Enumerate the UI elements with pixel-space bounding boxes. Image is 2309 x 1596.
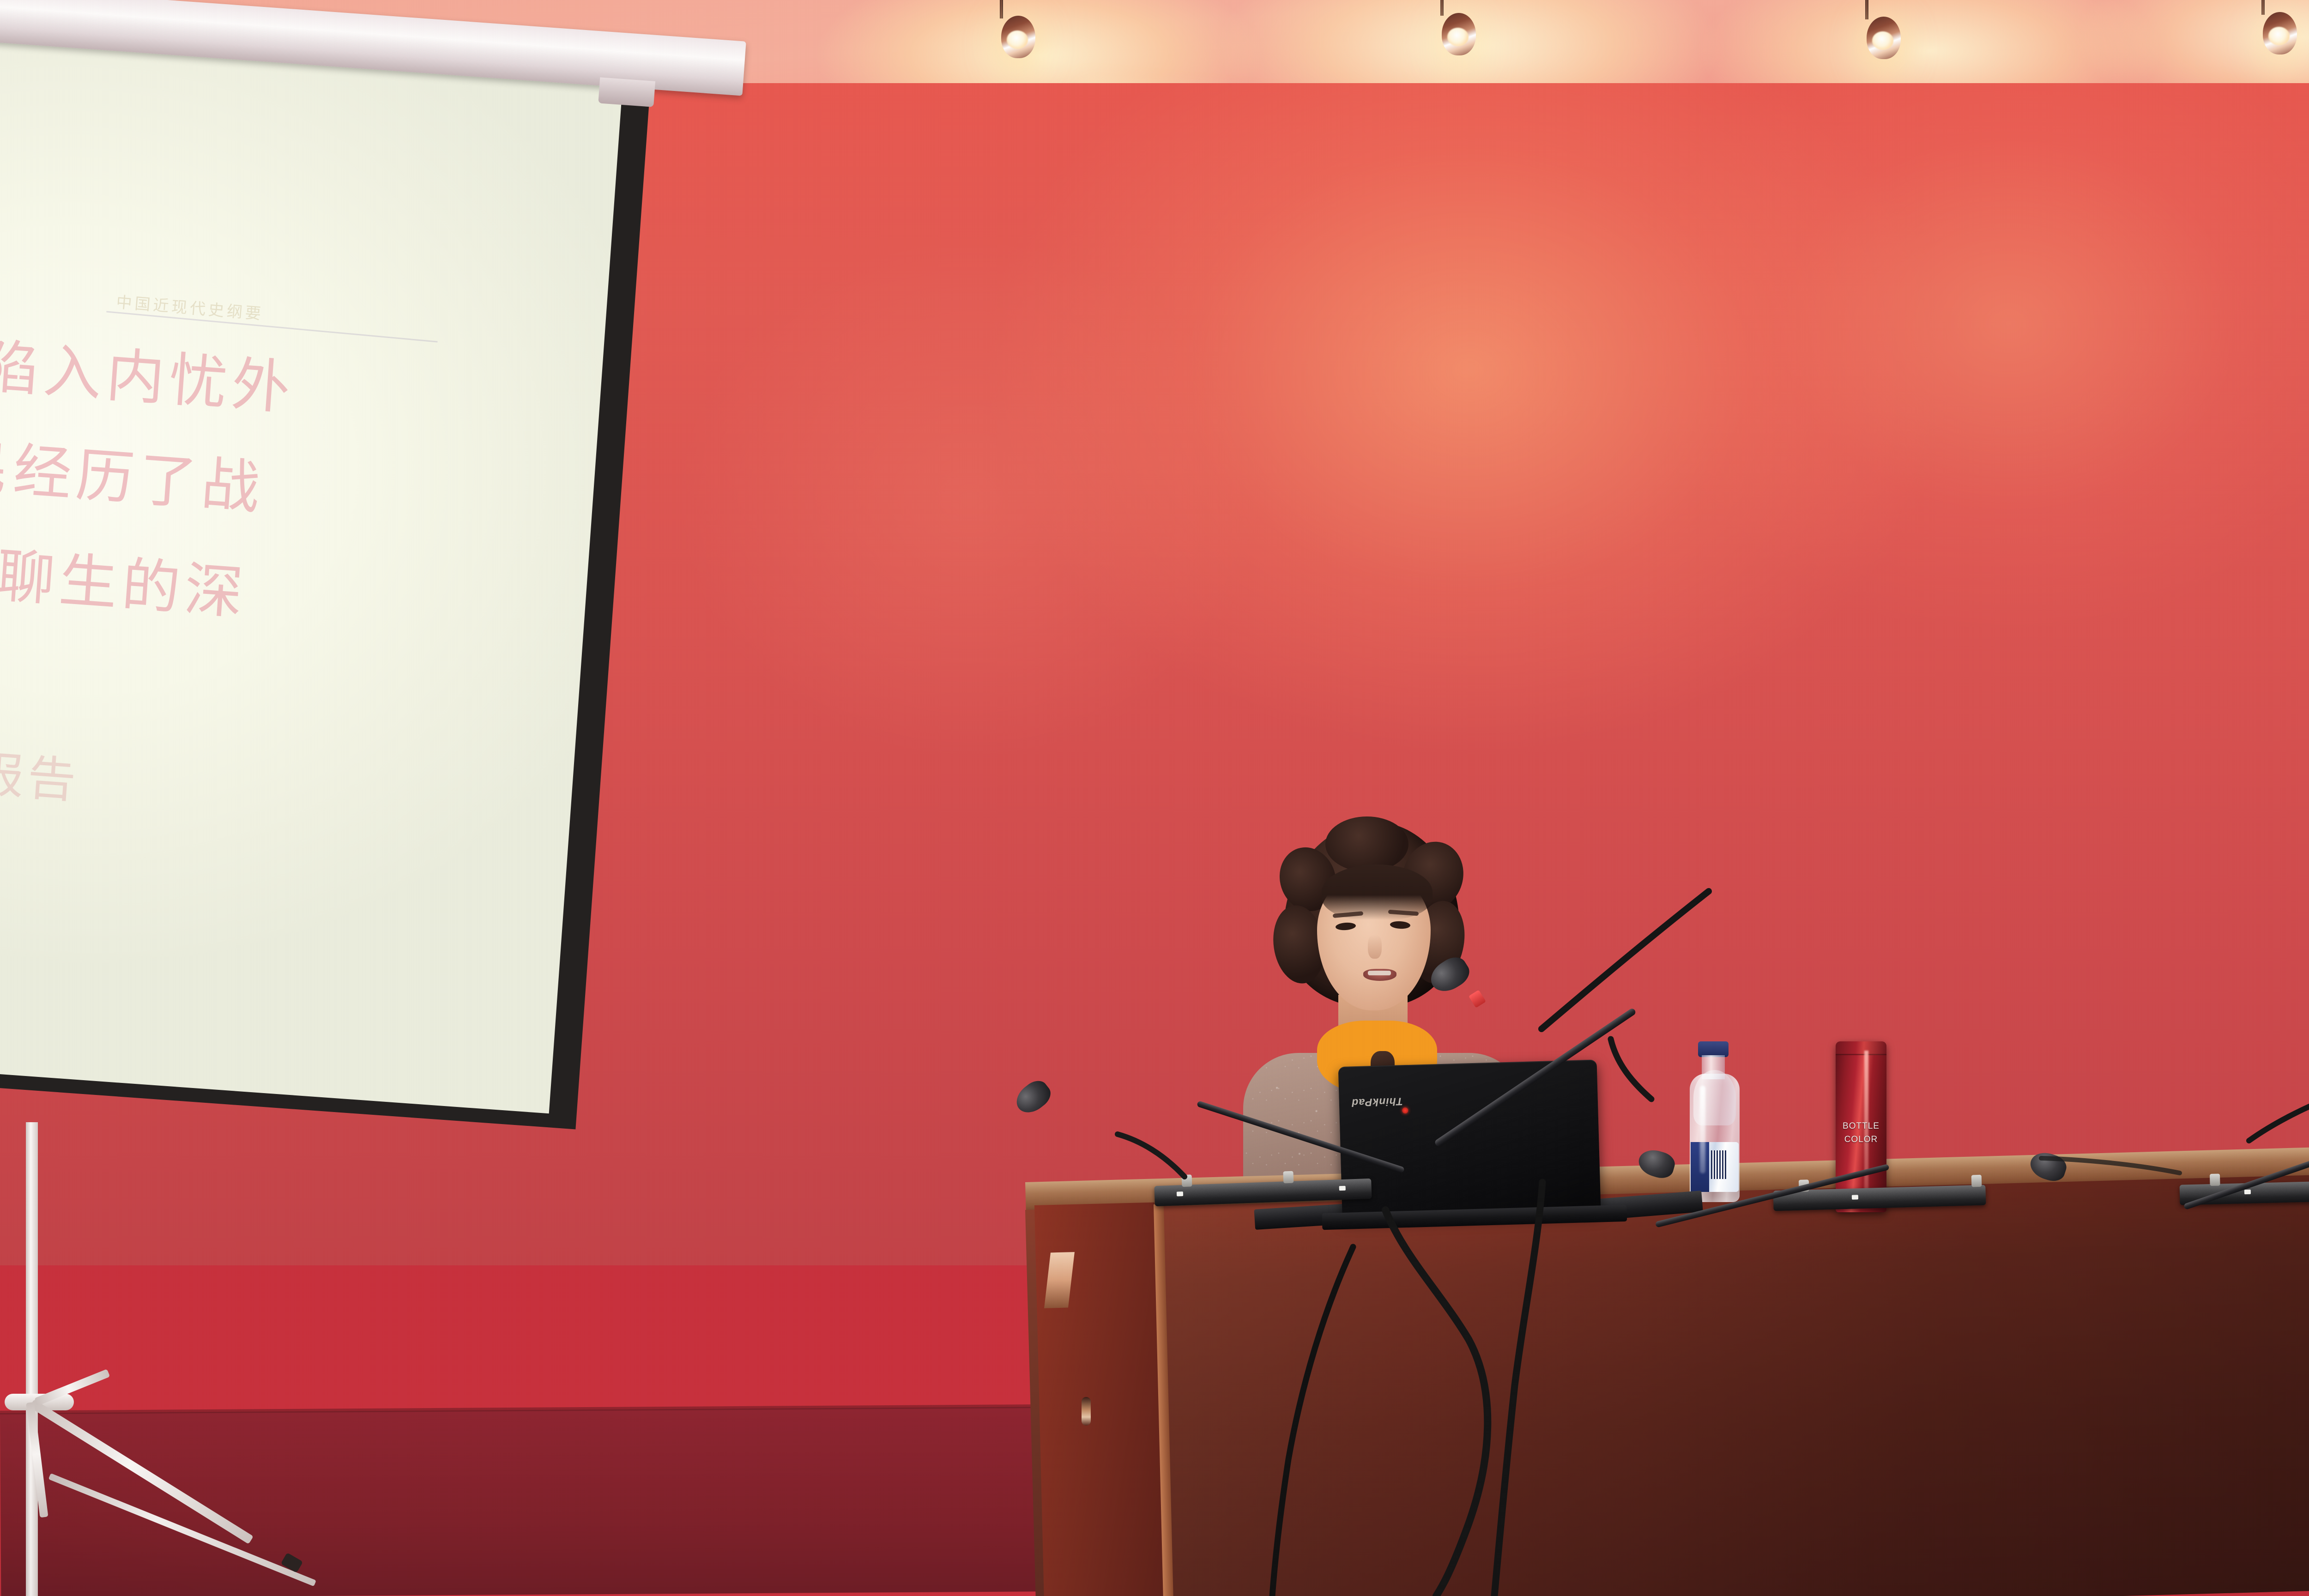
screen-case-bracket bbox=[598, 77, 655, 107]
tripod-leg bbox=[29, 1399, 254, 1544]
thinkpad-logo: ThinkPad bbox=[1360, 1095, 1403, 1109]
laptop-icon: ThinkPad bbox=[1338, 1060, 1602, 1238]
podium-knob bbox=[1082, 1397, 1091, 1426]
screen-surface: 中国近现代史纲要 ，中国陷入内忧外 中国人民经历了战 碎、民不聊生的深 ——十九… bbox=[0, 29, 623, 1114]
slide-attribution: ——十九大报告 bbox=[0, 716, 82, 812]
microphone-led bbox=[1177, 1191, 1183, 1196]
table-sheen bbox=[1025, 1173, 2309, 1596]
slide-header-text: 中国近现代史纲要 bbox=[115, 290, 403, 336]
tripod-pole bbox=[26, 1122, 38, 1596]
projection-screen-icon: 中国近现代史纲要 ，中国陷入内忧外 中国人民经历了战 碎、民不聊生的深 ——十九… bbox=[0, 0, 748, 1129]
microphone-stud bbox=[1182, 1174, 1192, 1187]
spotlight-bulb bbox=[1447, 28, 1469, 46]
spotlight-bulb bbox=[1872, 31, 1893, 50]
thermos-label-line-1: BOTTLE bbox=[1839, 1120, 1883, 1133]
presenter-hair-tuft bbox=[1325, 816, 1408, 872]
thermos-icon: BOTTLE COLOR bbox=[1836, 1041, 1886, 1212]
thermos-cap bbox=[1836, 1041, 1886, 1055]
microphone-led bbox=[1339, 1186, 1346, 1191]
slide-line-2: 中国人民经历了战 bbox=[0, 423, 266, 518]
water-bottle-icon bbox=[1688, 1041, 1741, 1208]
spotlight-stem bbox=[1865, 0, 1868, 19]
slide-line-1: ，中国陷入内忧外 bbox=[0, 323, 296, 418]
presenter-teeth bbox=[1368, 971, 1391, 975]
microphone-led bbox=[1852, 1195, 1858, 1199]
bottle-highlight bbox=[1700, 1086, 1705, 1173]
thinkpad-logo-dot bbox=[1402, 1107, 1408, 1113]
thermos-label-line-2: COLOR bbox=[1839, 1133, 1883, 1147]
spotlight-stem bbox=[1000, 0, 1003, 18]
lecture-room-photo: 中国近现代史纲要 ，中国陷入内忧外 中国人民经历了战 碎、民不聊生的深 ——十九… bbox=[0, 0, 2309, 1596]
microphone-stud bbox=[2210, 1173, 2220, 1186]
tripod-stand-icon bbox=[0, 1122, 416, 1596]
microphone-stud bbox=[1971, 1175, 1982, 1187]
spotlight-stem bbox=[1440, 0, 1444, 16]
slide-line-3: 碎、民不聊生的深 bbox=[0, 528, 249, 623]
microphone-stud bbox=[1283, 1171, 1294, 1184]
tripod-brace bbox=[48, 1473, 316, 1586]
thermos-label: BOTTLE COLOR bbox=[1839, 1120, 1883, 1146]
slide-content: 中国近现代史纲要 ，中国陷入内忧外 中国人民经历了战 碎、民不聊生的深 ——十九… bbox=[0, 29, 623, 1114]
presenter-nose bbox=[1368, 935, 1382, 959]
spotlight-stem bbox=[2261, 0, 2265, 15]
laptop-lid: ThinkPad bbox=[1338, 1060, 1601, 1220]
microphone-led bbox=[2244, 1190, 2251, 1194]
spotlight-bulb bbox=[1007, 30, 1028, 49]
bottle-cap bbox=[1698, 1041, 1729, 1057]
bottle-barcode bbox=[1711, 1150, 1727, 1179]
spotlight-bulb bbox=[2268, 27, 2290, 45]
